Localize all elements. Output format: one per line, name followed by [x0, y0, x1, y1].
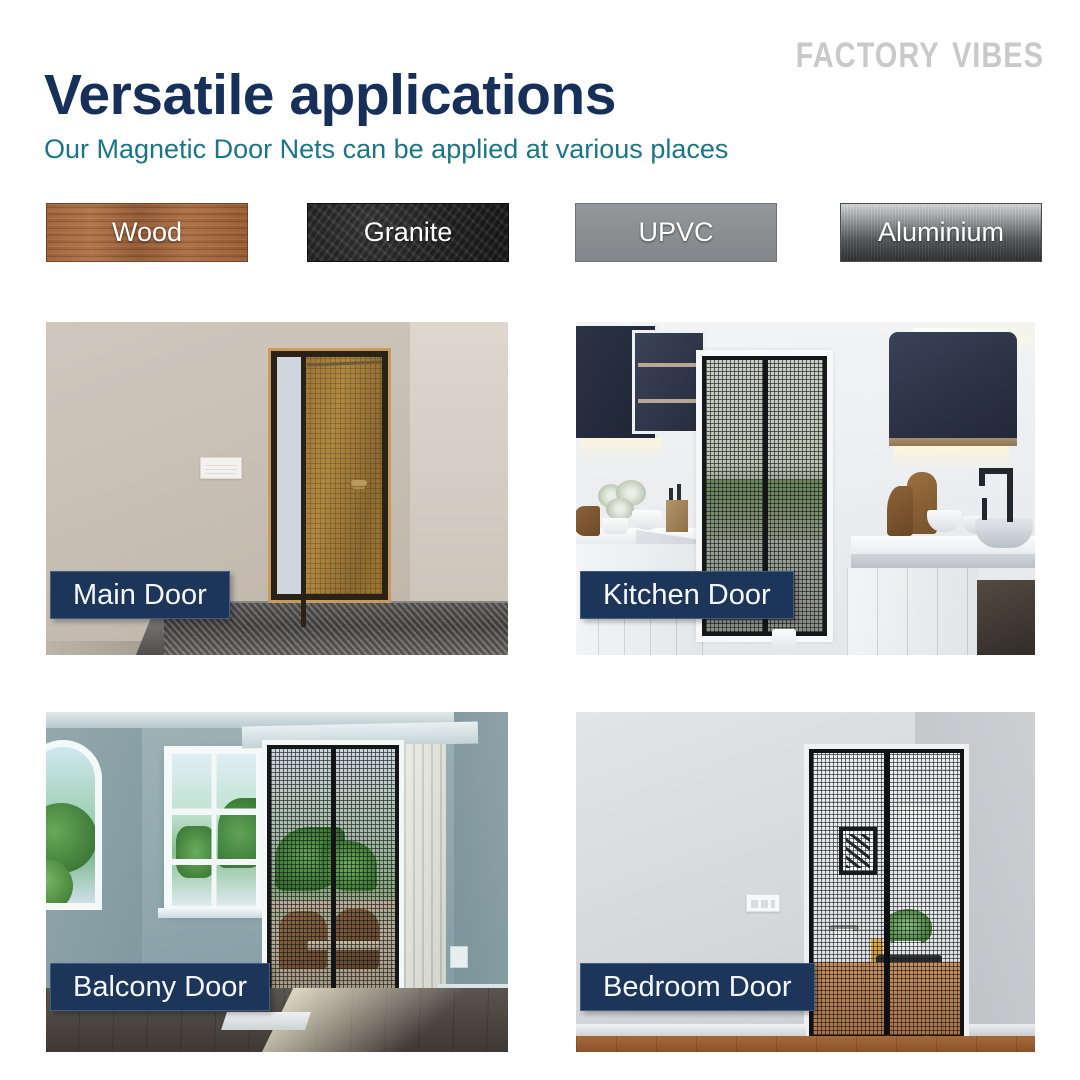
under-cabinet-glow-right [893, 446, 1009, 470]
wall-outlet [450, 946, 468, 968]
card-caption: Bedroom Door [580, 963, 815, 1011]
wood-floor [576, 1036, 1035, 1052]
card-caption: Kitchen Door [580, 571, 794, 619]
material-label: Granite [364, 217, 453, 248]
countertop-right-edge [851, 554, 1035, 568]
soap-dispenser [982, 498, 987, 520]
mesh-net-right-panel [305, 357, 382, 594]
casement-window [164, 746, 264, 914]
plant-pot-left [602, 518, 628, 534]
mesh-door-frame [809, 749, 964, 1039]
sheer-curtain [404, 744, 446, 992]
light-switch-plate [200, 457, 242, 479]
magnetic-center-strip [331, 749, 336, 1025]
material-swatch-aluminium[interactable]: Aluminium [840, 203, 1042, 262]
application-card-balcony-door[interactable]: Balcony Door [46, 712, 508, 1052]
page-subtitle: Our Magnetic Door Nets can be applied at… [44, 134, 728, 165]
material-label: Wood [112, 217, 182, 248]
arched-window [46, 740, 102, 910]
palm-foliage [176, 826, 216, 878]
upper-cabinet-right [889, 332, 1017, 442]
magnetic-center-strip [301, 355, 306, 627]
mesh-door-frame [267, 745, 399, 1029]
dark-wood-cabinet-right [977, 580, 1035, 655]
application-card-kitchen-door[interactable]: Kitchen Door [576, 322, 1035, 655]
cabinet-underside-wood [889, 438, 1017, 446]
card-caption: Main Door [50, 571, 230, 619]
caption-text: Balcony Door [73, 971, 247, 1004]
door-frame-inner [271, 351, 388, 600]
wall-right-section [410, 322, 508, 602]
door-frame-white [804, 744, 969, 1044]
faucet-column [1007, 468, 1013, 522]
window-sill [158, 908, 272, 918]
caption-text: Main Door [73, 579, 207, 612]
shelf-board [638, 399, 700, 403]
brand-watermark: Factory Vibes [796, 22, 1044, 79]
material-swatch-granite[interactable]: Granite [307, 203, 509, 262]
material-label: Aluminium [878, 217, 1004, 248]
door-frame-wooden [268, 348, 391, 603]
application-card-main-door[interactable]: Main Door [46, 322, 508, 655]
material-label: UPVC [638, 217, 713, 248]
mesh-texture [305, 357, 382, 594]
caption-text: Kitchen Door [603, 579, 771, 612]
vessel-sink [975, 518, 1033, 548]
floor-mat [221, 1012, 311, 1030]
material-swatch-upvc[interactable]: UPVC [575, 203, 777, 262]
card-caption: Balcony Door [50, 963, 270, 1011]
magnetic-center-strip [884, 753, 890, 1035]
palm-foliage [218, 798, 264, 868]
floor-vase [772, 629, 796, 651]
material-swatch-wood[interactable]: Wood [46, 203, 248, 262]
cutting-board-round [887, 486, 913, 536]
application-card-bedroom-door[interactable]: Bedroom Door [576, 712, 1035, 1052]
plant-foliage [606, 498, 634, 520]
caption-text: Bedroom Door [603, 971, 792, 1004]
shelf-board [638, 363, 700, 367]
light-switch-plate [746, 894, 780, 912]
door-handle [351, 480, 367, 486]
lower-cabinet-right-seams [847, 568, 979, 655]
under-cabinet-glow-left [580, 438, 662, 460]
knife-block [666, 500, 688, 532]
page-title: Versatile applications [44, 62, 616, 128]
open-shelf-unit-left [632, 330, 706, 434]
faucet-drop [979, 468, 985, 486]
